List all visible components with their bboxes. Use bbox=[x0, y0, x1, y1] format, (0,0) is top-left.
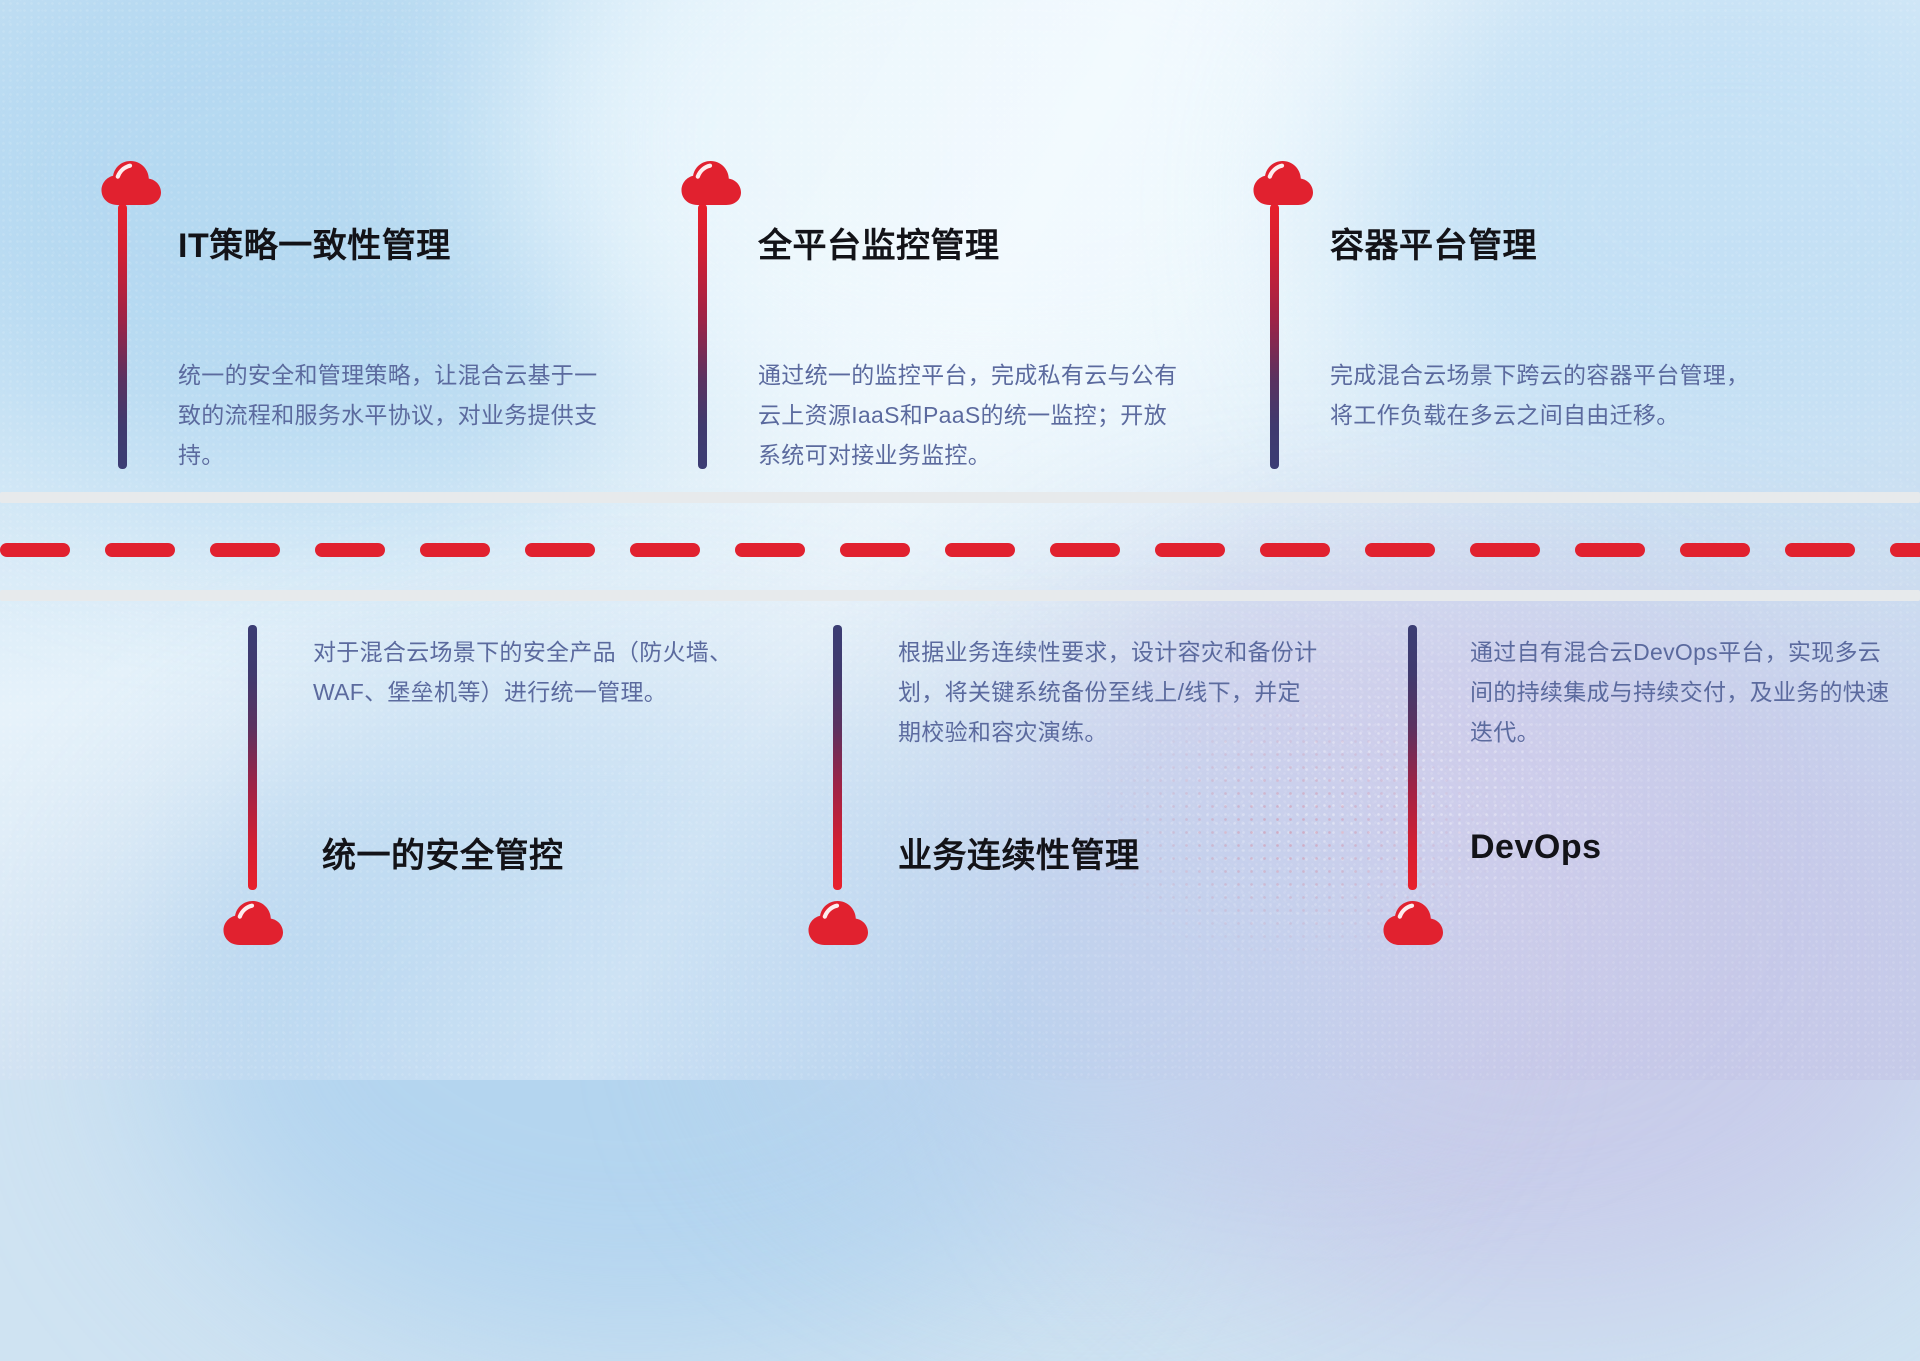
cloud-icon bbox=[680, 160, 742, 206]
road-edge-top bbox=[0, 492, 1920, 503]
milestone-body: 根据业务连续性要求，设计容灾和备份计划，将关键系统备份至线上/线下，并定期校验和… bbox=[898, 632, 1318, 752]
milestone-title: DevOps bbox=[1470, 828, 1602, 867]
road-dash-row bbox=[0, 543, 1920, 557]
milestone-body: 对于混合云场景下的安全产品（防火墙、WAF、堡垒机等）进行统一管理。 bbox=[313, 632, 733, 712]
road-dash bbox=[1365, 543, 1435, 557]
road-dash bbox=[420, 543, 490, 557]
milestone-title: 统一的安全管控 bbox=[322, 828, 564, 877]
cloud-icon bbox=[222, 900, 284, 946]
road-dash bbox=[1785, 543, 1855, 557]
road-edge-bottom bbox=[0, 590, 1920, 601]
milestone-body: 通过统一的监控平台，完成私有云与公有云上资源IaaS和PaaS的统一监控；开放系… bbox=[758, 355, 1178, 475]
pin-bar bbox=[118, 204, 127, 469]
milestone-title: 容器平台管理 bbox=[1330, 218, 1537, 267]
pin-bar bbox=[1270, 204, 1279, 469]
road-dash bbox=[1155, 543, 1225, 557]
milestone-body: 通过自有混合云DevOps平台，实现多云间的持续集成与持续交付，及业务的快速迭代… bbox=[1470, 632, 1890, 752]
road-dash bbox=[0, 543, 70, 557]
road-dash bbox=[525, 543, 595, 557]
road-dash bbox=[735, 543, 805, 557]
road-dash bbox=[1890, 543, 1920, 557]
pin-bar bbox=[248, 625, 257, 890]
road-dash bbox=[1575, 543, 1645, 557]
cloud-icon bbox=[1382, 900, 1444, 946]
pin-bar bbox=[1408, 625, 1417, 890]
background bbox=[0, 0, 1920, 1080]
road-dash bbox=[945, 543, 1015, 557]
cloud-icon bbox=[100, 160, 162, 206]
milestone-title: 全平台监控管理 bbox=[758, 218, 1000, 267]
road-dash bbox=[840, 543, 910, 557]
road-dash bbox=[210, 543, 280, 557]
pin-bar bbox=[833, 625, 842, 890]
road-dash bbox=[1050, 543, 1120, 557]
cloud-icon bbox=[807, 900, 869, 946]
road-dash bbox=[1260, 543, 1330, 557]
pin-bar bbox=[698, 204, 707, 469]
cloud-icon bbox=[1252, 160, 1314, 206]
milestone-body: 统一的安全和管理策略，让混合云基于一致的流程和服务水平协议，对业务提供支持。 bbox=[178, 355, 598, 475]
road-dash bbox=[1470, 543, 1540, 557]
milestone-title: IT策略一致性管理 bbox=[178, 218, 451, 267]
milestone-body: 完成混合云场景下跨云的容器平台管理，将工作负载在多云之间自由迁移。 bbox=[1330, 355, 1750, 435]
road-dash bbox=[315, 543, 385, 557]
milestone-title: 业务连续性管理 bbox=[898, 828, 1140, 877]
road-dash bbox=[1680, 543, 1750, 557]
road-dash bbox=[105, 543, 175, 557]
road-dash bbox=[630, 543, 700, 557]
